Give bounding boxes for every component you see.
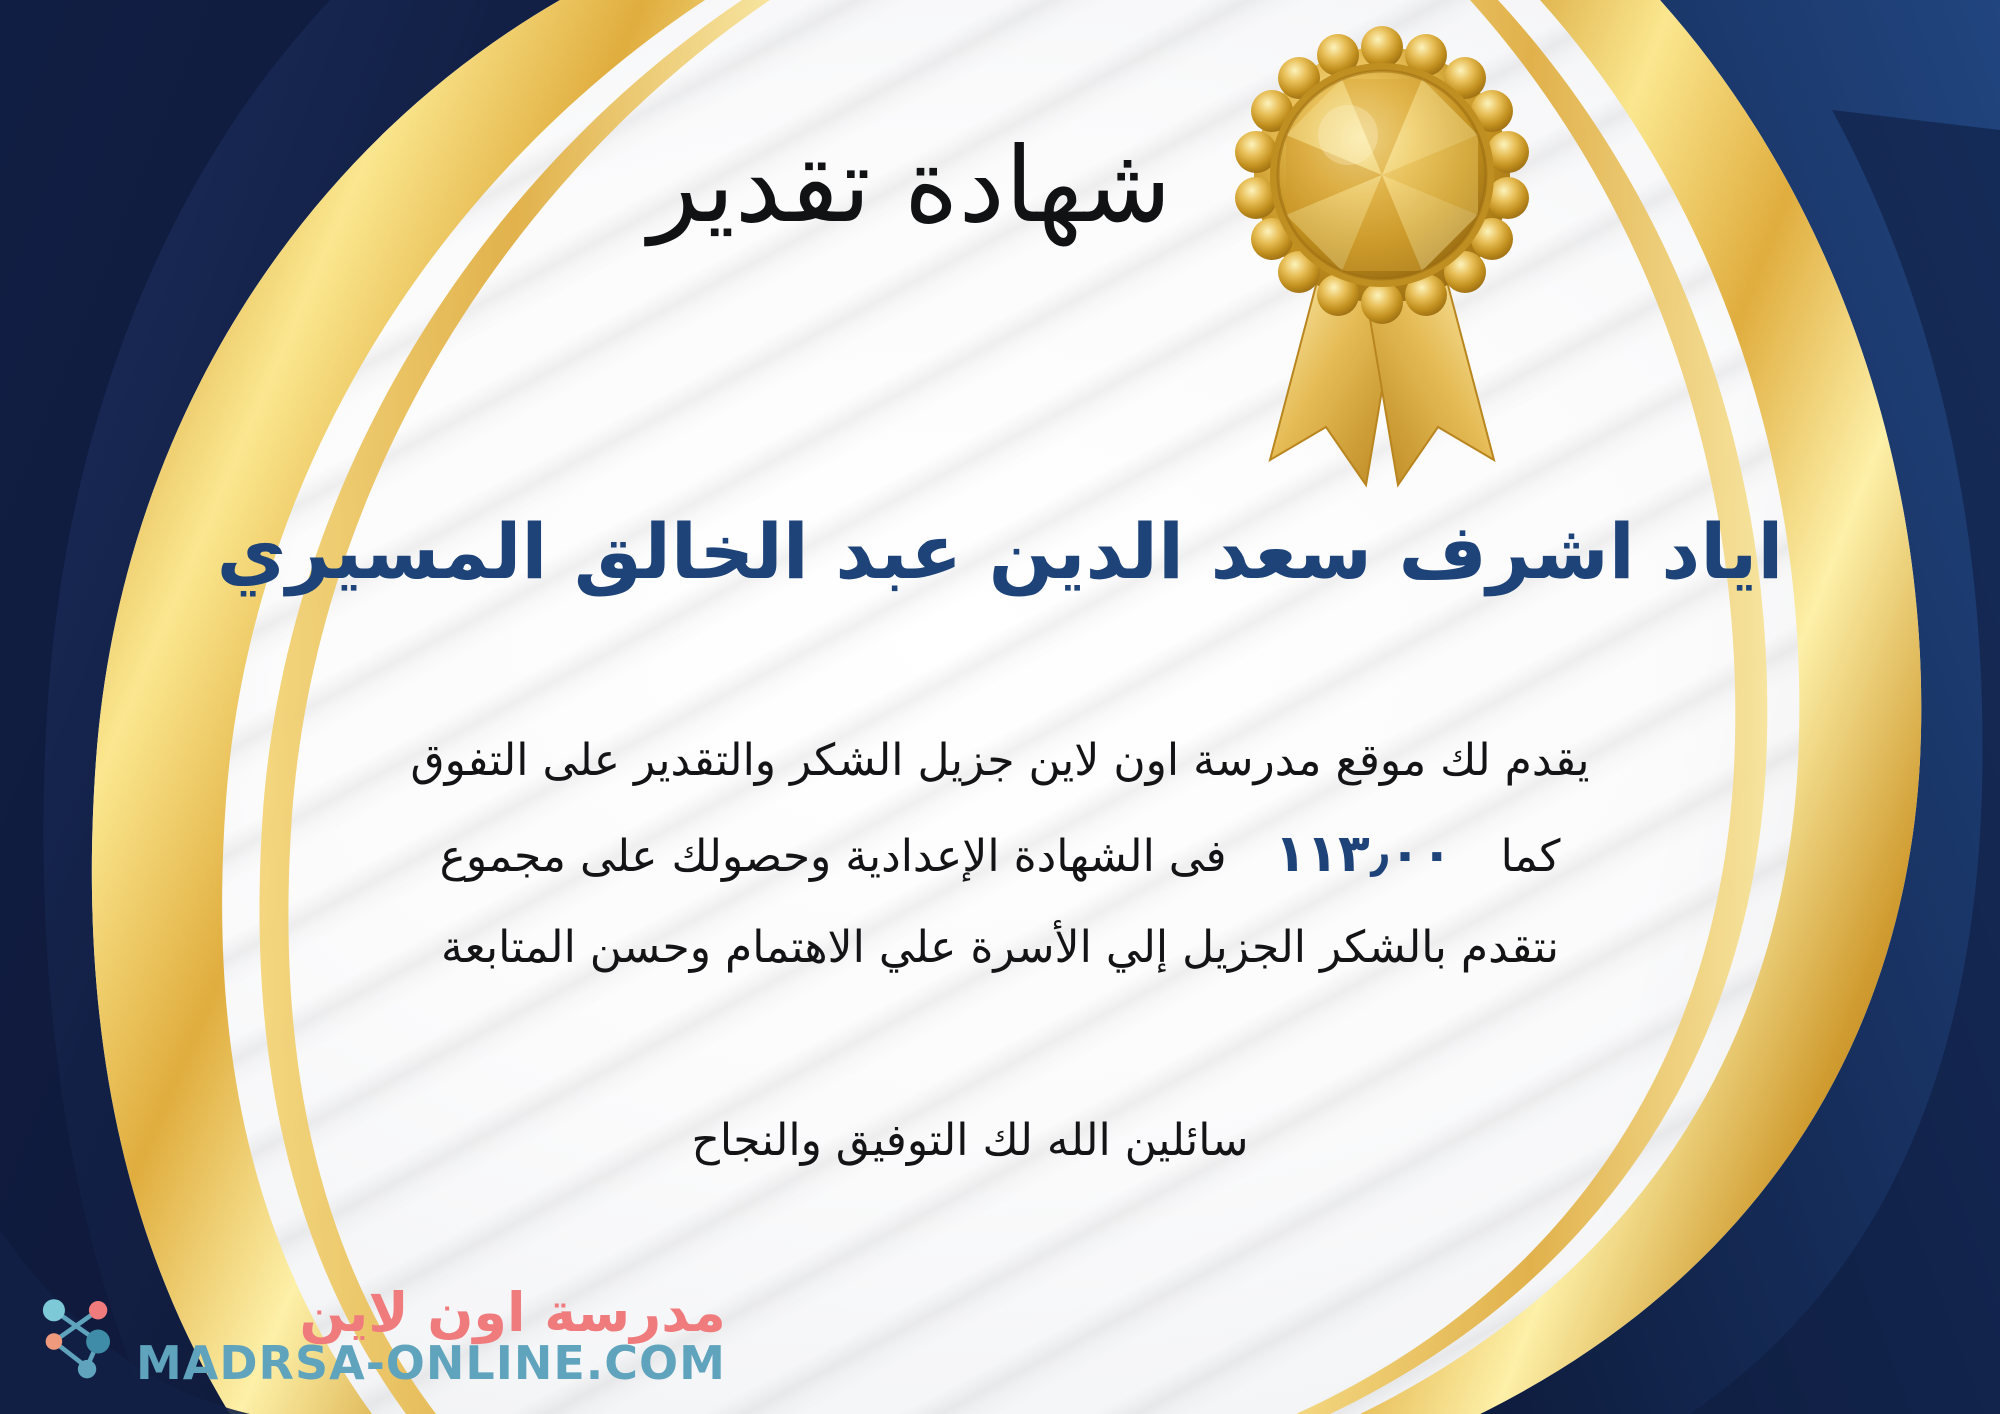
logo-text-group: مدرسة اون لاين MADRSA-ONLINE.COM — [136, 1286, 726, 1386]
certificate-canvas: شهادة تقدير اياد اشرف سعد الدين عبد الخا… — [0, 0, 2000, 1414]
body-line-2-prefix: فى الشهادة الإعدادية وحصولك على مجموع — [440, 831, 1227, 882]
certificate-body: يقدم لك موقع مدرسة اون لاين جزيل الشكر و… — [0, 718, 2000, 991]
body-line-2: كما ١١٣٫٠٠ فى الشهادة الإعدادية وحصولك ع… — [190, 804, 1810, 905]
score-value: ١١٣٫٠٠ — [1240, 824, 1486, 884]
page-title: شهادة تقدير — [0, 128, 2000, 242]
logo-domain: MADRSA-ONLINE.COM — [136, 1340, 726, 1386]
body-line-3: نتقدم بالشكر الجزيل إلي الأسرة علي الاهت… — [190, 905, 1810, 991]
site-logo[interactable]: مدرسة اون لاين MADRSA-ONLINE.COM — [30, 1286, 726, 1386]
network-nodes-icon — [30, 1290, 122, 1382]
body-line-2-suffix: كما — [1501, 831, 1561, 882]
student-name: اياد اشرف سعد الدين عبد الخالق المسيري — [0, 508, 2000, 595]
body-line-1: يقدم لك موقع مدرسة اون لاين جزيل الشكر و… — [190, 718, 1810, 804]
closing-wish: سائلين الله لك التوفيق والنجاح — [0, 1115, 2000, 1166]
logo-arabic-name: مدرسة اون لاين — [299, 1286, 725, 1340]
certificate-content: شهادة تقدير اياد اشرف سعد الدين عبد الخا… — [0, 0, 2000, 1414]
